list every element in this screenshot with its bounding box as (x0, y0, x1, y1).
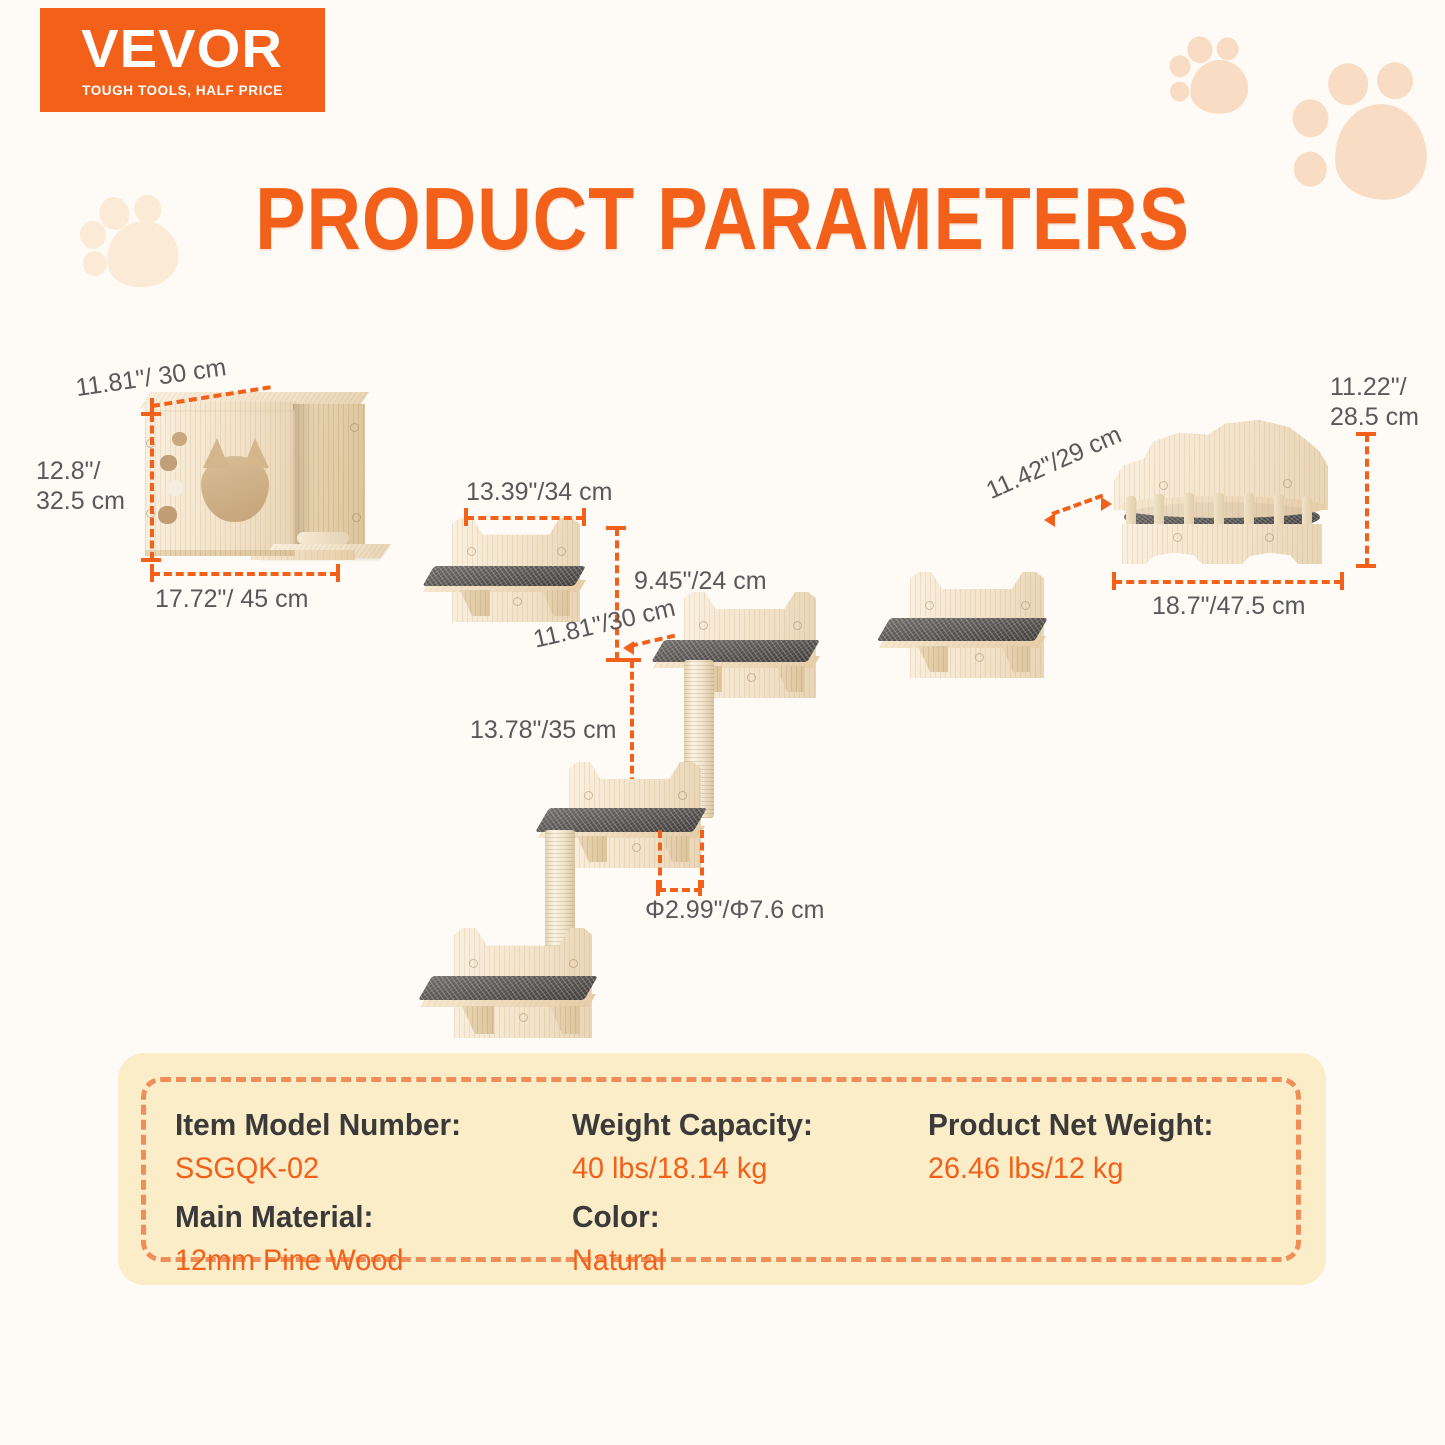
spec-main-material: Main Material: 12mm Pine Wood (175, 1199, 413, 1278)
cat-head-entrance-cutout (201, 438, 269, 522)
product-cat-house (145, 392, 415, 577)
product-parameters-page: VEVOR TOUGH TOOLS, HALF PRICE PRODUCT PA… (0, 0, 1445, 1445)
carpet-pad (418, 976, 598, 1000)
decorative-paw-hole (167, 480, 183, 496)
dimension-shelf-width: 13.39"/34 cm (466, 478, 612, 507)
spec-product-net-weight: Product Net Weight: 26.46 lbs/12 kg (928, 1107, 1225, 1186)
decorative-paw-hole (158, 506, 177, 524)
carpet-pad (877, 618, 1048, 641)
brand-name: VEVOR (82, 22, 284, 76)
dimension-post-diameter: Φ2.99"/Φ7.6 cm (645, 896, 824, 925)
page-title: PRODUCT PARAMETERS (101, 168, 1344, 270)
spec-label: Color: (572, 1199, 665, 1235)
spec-label: Weight Capacity: (572, 1107, 813, 1143)
product-wall-shelf (886, 572, 1072, 692)
spec-value: 26.46 lbs/12 kg (928, 1152, 1213, 1186)
decorative-paw-hole (160, 455, 177, 471)
spec-label: Main Material: (175, 1199, 403, 1235)
spec-value: 12mm Pine Wood (175, 1244, 403, 1278)
carpet-pad (651, 640, 820, 662)
product-step-shelf-4 (428, 928, 624, 1052)
dimension-post-height: 13.78"/35 cm (470, 716, 616, 745)
vevor-logo: VEVOR TOUGH TOOLS, HALF PRICE (40, 8, 325, 112)
spec-weight-capacity: Weight Capacity: 40 lbs/18.14 kg (572, 1107, 823, 1186)
paw-print-decor-top-right-small (1162, 18, 1275, 131)
spec-label: Item Model Number: (175, 1107, 461, 1143)
dimension-cloud-width: 18.7"/47.5 cm (1152, 592, 1305, 621)
carpet-pad (422, 566, 586, 586)
spec-value: 40 lbs/18.14 kg (572, 1152, 813, 1186)
brand-tagline: TOUGH TOOLS, HALF PRICE (82, 83, 283, 98)
spec-color: Color: Natural (572, 1199, 669, 1278)
dimension-house-height: 12.8"/ 32.5 cm (36, 456, 125, 516)
dimension-house-width: 17.72"/ 45 cm (155, 585, 308, 614)
spec-value: Natural (572, 1244, 665, 1278)
product-cloud-bed (1096, 418, 1346, 568)
carpet-pad (535, 808, 707, 832)
spec-item-model-number: Item Model Number: SSGQK-02 (175, 1107, 473, 1186)
spec-label: Product Net Weight: (928, 1107, 1213, 1143)
spec-value: SSGQK-02 (175, 1152, 461, 1186)
decorative-paw-hole (172, 432, 187, 446)
dimension-cloud-height: 11.22"/ 28.5 cm (1330, 372, 1419, 432)
